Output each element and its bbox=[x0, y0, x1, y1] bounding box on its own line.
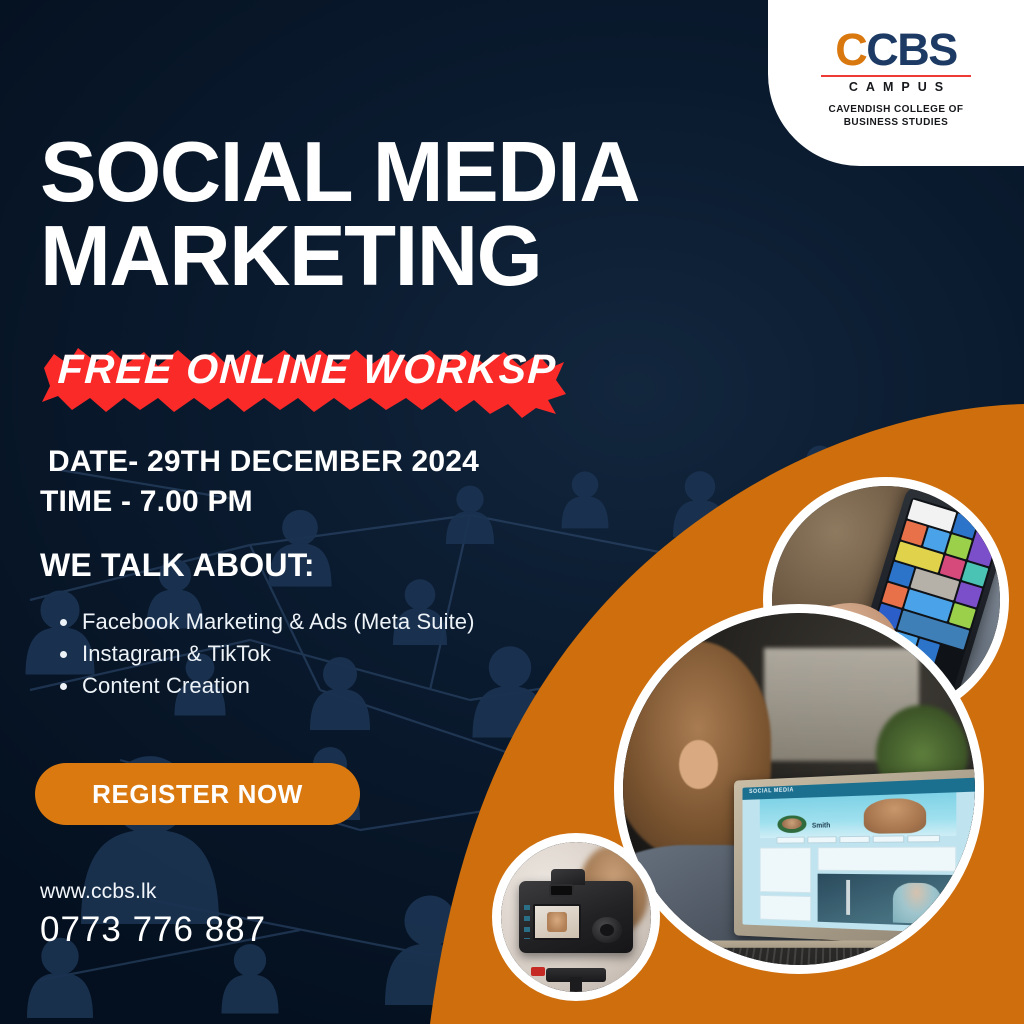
list-item: Instagram & TikTok bbox=[52, 638, 475, 670]
poster-content: SOCIAL MEDIA MARKETING FREE ONLINE WORKS… bbox=[0, 0, 1024, 1024]
free-workshop-badge-text: FREE ONLINE WORKSP bbox=[57, 346, 558, 393]
event-datetime: DATE- 29TH DECEMBER 2024 TIME - 7.00 PM bbox=[40, 445, 479, 519]
website-url[interactable]: www.ccbs.lk bbox=[40, 880, 157, 904]
headline-line-1: SOCIAL MEDIA bbox=[40, 125, 639, 220]
register-now-button[interactable]: REGISTER NOW bbox=[35, 763, 360, 825]
poster-canvas: SOCIAL MEDIA Smith bbox=[0, 0, 1024, 1024]
page-title: SOCIAL MEDIA MARKETING bbox=[40, 131, 770, 299]
phone-number[interactable]: 0773 776 887 bbox=[40, 910, 266, 950]
event-time: TIME - 7.00 PM bbox=[40, 485, 479, 519]
headline-line-2: MARKETING bbox=[40, 215, 770, 299]
list-item: Content Creation bbox=[52, 670, 475, 702]
section-heading: WE TALK ABOUT: bbox=[40, 547, 315, 584]
topics-list: Facebook Marketing & Ads (Meta Suite) In… bbox=[52, 606, 475, 702]
list-item: Facebook Marketing & Ads (Meta Suite) bbox=[52, 606, 475, 638]
event-date: DATE- 29TH DECEMBER 2024 bbox=[40, 445, 479, 479]
